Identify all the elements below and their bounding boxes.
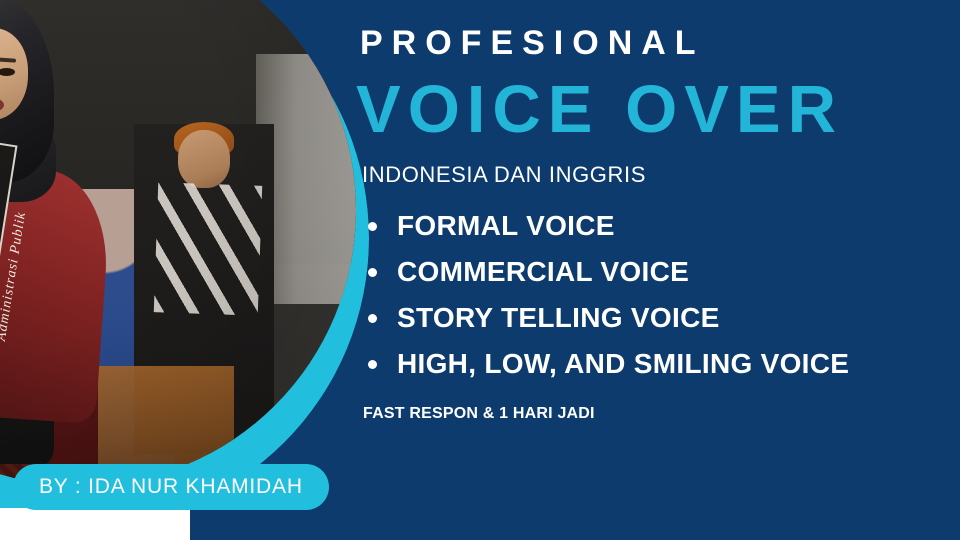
speaker-photo-scene: Administrasi Publik: [0, 0, 356, 486]
bullet-dot-icon: [368, 268, 377, 277]
subtitle-languages: INDONESIA DAN INGGRIS: [362, 162, 646, 188]
list-item: COMMERCIAL VOICE: [360, 249, 960, 295]
bullet-dot-icon: [368, 314, 377, 323]
list-item: HIGH, LOW, AND SMILING VOICE: [360, 341, 960, 387]
speaker-photo: Administrasi Publik: [0, 0, 356, 486]
turnaround-note: FAST RESPON & 1 HARI JADI: [363, 405, 595, 423]
service-list: FORMAL VOICE COMMERCIAL VOICE STORY TELL…: [360, 203, 960, 387]
bullet-dot-icon: [368, 222, 377, 231]
list-item: FORMAL VOICE: [360, 203, 960, 249]
poster-canvas: Administrasi Publik PROFESIONAL VOICE OV…: [0, 0, 960, 540]
author-label: BY : IDA NUR KHAMIDAH: [39, 475, 303, 499]
footer-white-block: [0, 508, 190, 540]
eyebrow-heading: PROFESIONAL: [360, 26, 705, 60]
service-label: COMMERCIAL VOICE: [397, 256, 689, 288]
text-column: PROFESIONAL VOICE OVER INDONESIA DAN ING…: [360, 0, 960, 540]
service-label: FORMAL VOICE: [397, 210, 615, 242]
list-item: STORY TELLING VOICE: [360, 295, 960, 341]
service-label: STORY TELLING VOICE: [397, 302, 720, 334]
bullet-dot-icon: [368, 360, 377, 369]
page-title: VOICE OVER: [356, 76, 843, 143]
author-badge: BY : IDA NUR KHAMIDAH: [13, 464, 329, 510]
service-label: HIGH, LOW, AND SMILING VOICE: [397, 348, 849, 380]
photo-vignette: [0, 0, 356, 486]
